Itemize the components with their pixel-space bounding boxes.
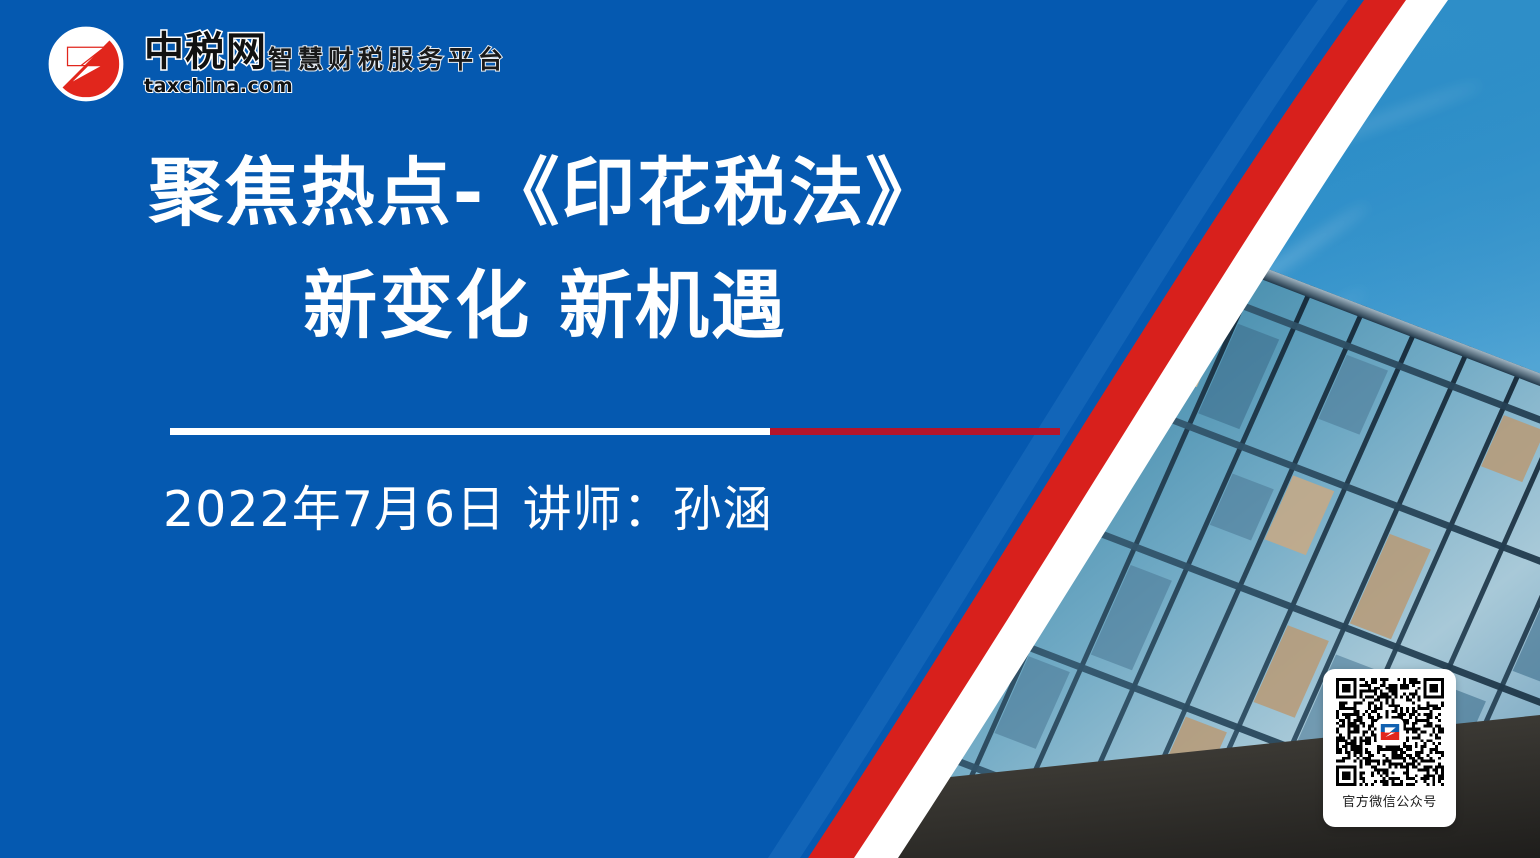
taxchina-z-circle-logo-icon [44, 22, 128, 106]
brand-tagline: 智慧财税服务平台 [268, 40, 508, 76]
brand-logo: 中税网 taxchina.com [44, 22, 293, 106]
title-line-2: 新变化 新机遇 [0, 263, 1090, 350]
divider-red-segment [770, 428, 1060, 435]
divider-white-segment [170, 428, 770, 435]
title-divider-rule [170, 428, 1060, 435]
title-line-1: 聚焦热点-《印花税法》 [0, 150, 1090, 237]
qr-code-image[interactable] [1336, 678, 1444, 786]
brand-name-en: taxchina.com [144, 77, 293, 96]
wechat-qr-card[interactable]: 官方微信公众号 [1323, 669, 1456, 827]
taxchina-z-badge-icon [1376, 719, 1403, 746]
page-title: 聚焦热点-《印花税法》 新变化 新机遇 [0, 150, 1090, 351]
presentation-title-slide: 中税网 taxchina.com 智慧财税服务平台 聚焦热点-《印花税法》 新变… [0, 0, 1540, 858]
date-and-speaker: 2022年7月6日 讲师：孙涵 [163, 470, 773, 541]
qr-caption: 官方微信公众号 [1342, 791, 1437, 810]
